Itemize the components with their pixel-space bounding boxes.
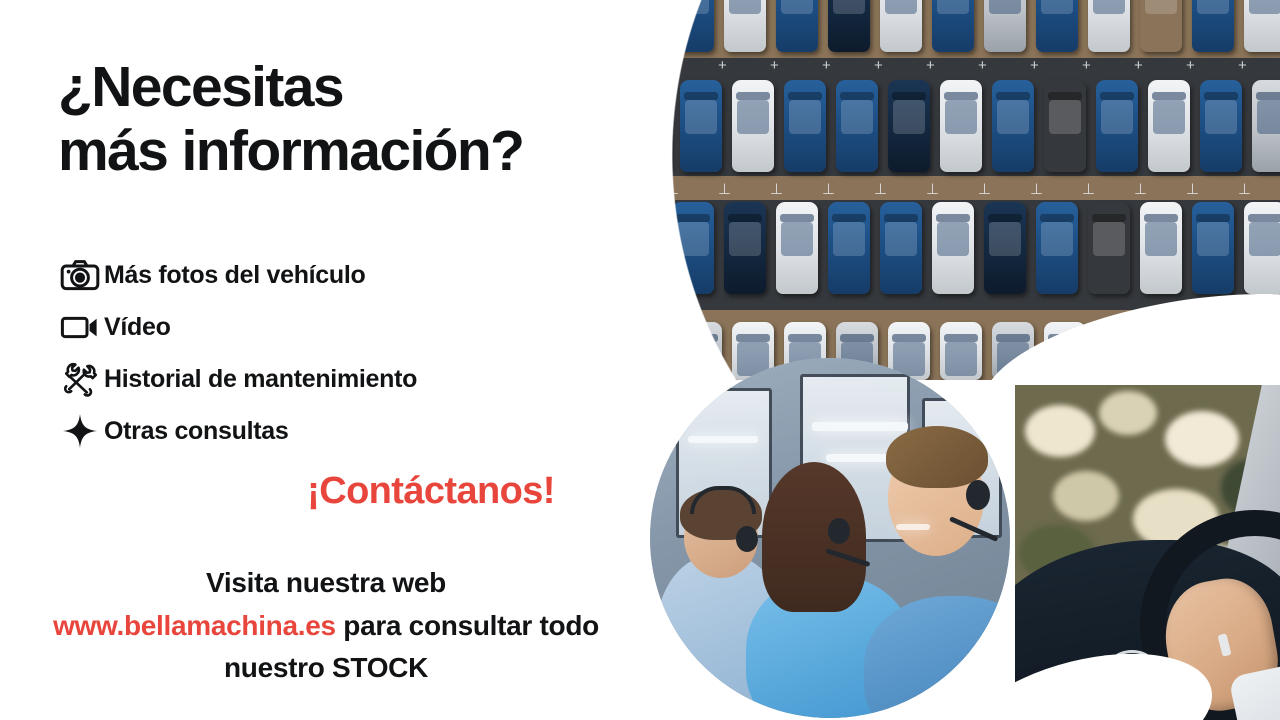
- video-icon: [56, 307, 104, 347]
- feature-item-video: Vídeo: [56, 301, 616, 353]
- content-layer: ¿Necesitas más información? Más fotos de…: [0, 0, 1280, 720]
- tools-icon: [56, 359, 104, 399]
- camera-icon: [56, 255, 104, 295]
- website-url[interactable]: www.bellamachina.es: [53, 610, 336, 641]
- feature-item-other: Otras consultas: [56, 405, 616, 457]
- headline-line-1: ¿Necesitas: [58, 56, 698, 120]
- feature-label: Más fotos del vehículo: [104, 261, 366, 290]
- web-cta-line-2-rest: para consultar todo: [336, 610, 599, 641]
- web-cta-line-1: Visita nuestra web: [0, 562, 652, 605]
- feature-list: Más fotos del vehículo Vídeo: [56, 249, 616, 457]
- contact-cta: ¡Contáctanos!: [0, 470, 862, 513]
- feature-item-photos: Más fotos del vehículo: [56, 249, 616, 301]
- headline-line-2: más información?: [58, 120, 698, 184]
- feature-label: Vídeo: [104, 313, 171, 342]
- sparkle-icon: [56, 411, 104, 451]
- feature-label: Otras consultas: [104, 417, 288, 446]
- page-title: ¿Necesitas más información?: [58, 56, 698, 184]
- web-cta: Visita nuestra web www.bellamachina.es p…: [0, 562, 652, 690]
- poster-canvas: +⊥+⊥+⊥+⊥+⊥+⊥+⊥+⊥+⊥+⊥+⊥+⊥+⊥: [0, 0, 1280, 720]
- web-cta-line-3: nuestro STOCK: [0, 647, 652, 690]
- feature-item-maintenance: Historial de mantenimiento: [56, 353, 616, 405]
- feature-label: Historial de mantenimiento: [104, 365, 417, 394]
